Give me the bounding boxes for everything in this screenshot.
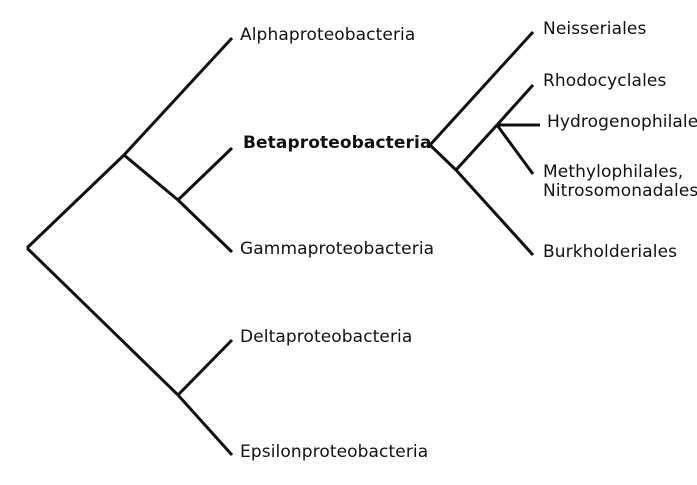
tip-label-hydrogenophilales: Hydrogenophilales: [547, 113, 697, 132]
branch-delta-epsilon-to-deltaproteobacteria: [178, 340, 232, 395]
tip-label-betaproteobacteria: Betaproteobacteria: [243, 134, 432, 153]
tip-label-burkholderiales: Burkholderiales: [543, 243, 677, 262]
tip-label-deltaproteobacteria: Deltaproteobacteria: [240, 328, 412, 347]
branch-beta-gamma-to-gammaproteobacteria: [178, 200, 232, 252]
branch-beta-inner-to-trifurcation: [456, 125, 497, 170]
tip-label-nitrosomonadales-line2: Nitrosomonadales: [543, 182, 697, 201]
branch-beta-to-neisseriales: [430, 32, 533, 145]
tip-label-methylophilales-line1: Methylophilales,: [543, 162, 683, 182]
branch-alpha-clade-to-beta-gamma: [124, 155, 178, 200]
branch-beta-inner-to-burkholderiales: [456, 170, 533, 255]
tip-label-neisseriales: Neisseriales: [543, 20, 646, 39]
tip-label-rhodocyclales: Rhodocyclales: [543, 72, 666, 91]
branch-trifurcation-to-rhodocyclales: [497, 85, 533, 125]
phylogenetic-tree-diagram: Alphaproteobacteria Betaproteobacteria G…: [0, 0, 697, 485]
tip-label-methylophilales-nitrosomonadales: Methylophilales, Nitrosomonadales: [543, 163, 697, 201]
tip-label-gammaproteobacteria: Gammaproteobacteria: [240, 240, 434, 259]
branch-delta-epsilon-to-epsilonproteobacteria: [178, 395, 232, 455]
branch-beta-to-beta-inner: [430, 145, 456, 170]
branch-root-to-alpha-clade: [27, 155, 124, 248]
tip-label-epsilonproteobacteria: Epsilonproteobacteria: [240, 443, 428, 462]
tip-label-alphaproteobacteria: Alphaproteobacteria: [240, 26, 415, 45]
branch-alpha-clade-to-alphaproteobacteria: [124, 38, 232, 155]
branch-root-to-delta-epsilon: [27, 248, 178, 395]
branch-trifurcation-to-methylophilales: [497, 125, 533, 174]
branch-beta-gamma-to-betaproteobacteria: [178, 148, 232, 200]
